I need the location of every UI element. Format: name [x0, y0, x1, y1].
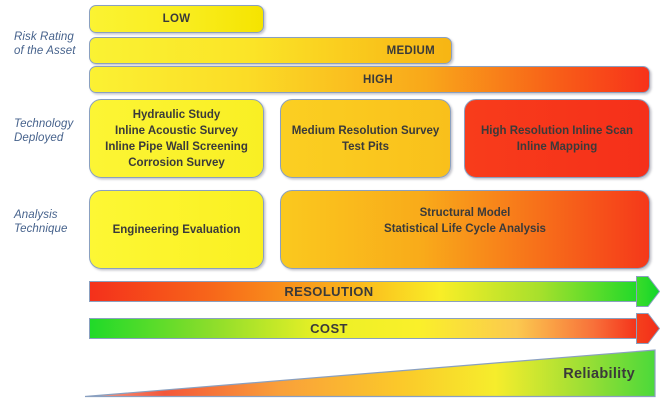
row-label-analysis-technique: Analysis Technique	[14, 209, 88, 236]
reliability-label: Reliability	[563, 366, 635, 382]
resolution-arrow-label: RESOLUTION	[249, 281, 409, 302]
risk-rating-diagram: Risk Rating of the Asset Technology Depl…	[0, 0, 669, 402]
risk-bar-high-label: HIGH	[90, 67, 393, 92]
cost-arrow: COST	[89, 318, 661, 339]
cost-arrow-label: COST	[269, 318, 389, 339]
technology-box-high[interactable]: High Resolution Inline Scan Inline Mappi…	[464, 99, 650, 178]
analysis-box-low-label: Engineering Evaluation	[113, 222, 241, 238]
technology-box-low-label: Hydraulic Study Inline Acoustic Survey I…	[105, 107, 248, 171]
technology-box-high-label: High Resolution Inline Scan Inline Mappi…	[481, 123, 633, 155]
risk-bar-low-label: LOW	[90, 6, 263, 32]
technology-box-low[interactable]: Hydraulic Study Inline Acoustic Survey I…	[89, 99, 264, 178]
technology-box-medium-label: Medium Resolution Survey Test Pits	[292, 123, 440, 155]
row-label-risk-rating: Risk Rating of the Asset	[14, 31, 88, 58]
risk-bar-medium-label: MEDIUM	[90, 38, 435, 63]
reliability-triangle: Reliability	[84, 349, 659, 398]
risk-bar-low[interactable]: LOW	[89, 5, 264, 33]
technology-box-medium[interactable]: Medium Resolution Survey Test Pits	[280, 99, 451, 178]
resolution-arrow: RESOLUTION	[89, 281, 661, 302]
risk-bar-high[interactable]: HIGH	[89, 66, 650, 93]
cost-arrow-head-icon	[636, 313, 660, 344]
resolution-arrow-head-icon	[636, 276, 660, 307]
analysis-box-high[interactable]: Structural Model Statistical Life Cycle …	[280, 190, 650, 269]
row-label-technology-deployed: Technology Deployed	[14, 118, 88, 145]
risk-bar-medium[interactable]: MEDIUM	[89, 37, 452, 64]
analysis-box-low[interactable]: Engineering Evaluation	[89, 190, 264, 269]
analysis-box-high-label: Structural Model Statistical Life Cycle …	[384, 205, 546, 237]
